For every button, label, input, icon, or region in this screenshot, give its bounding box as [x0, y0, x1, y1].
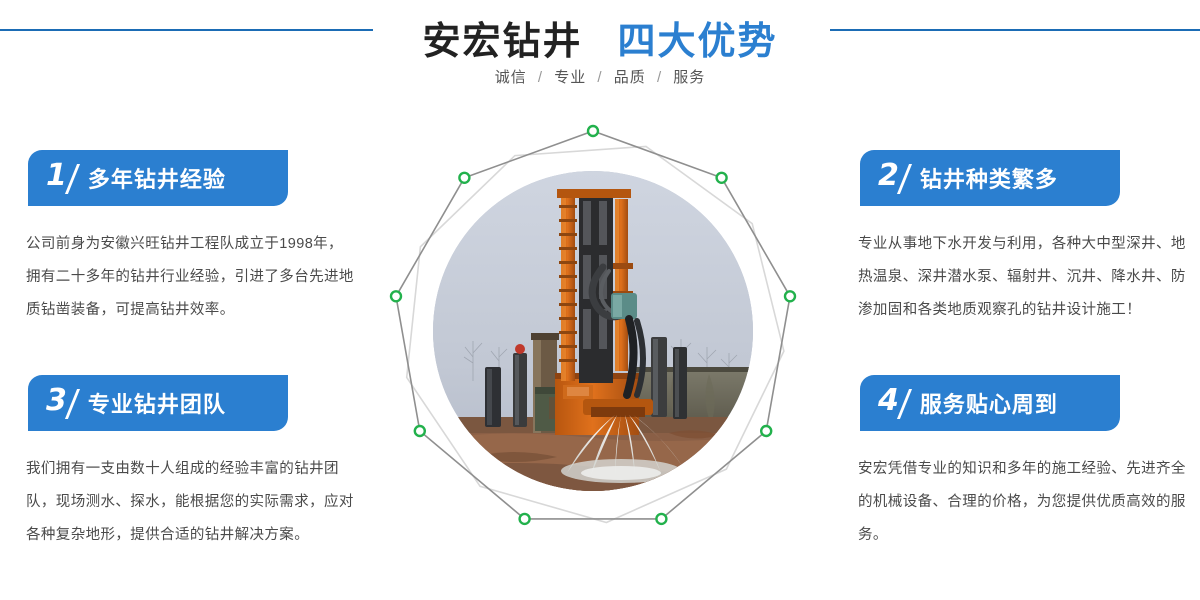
- advantage-body-3: 我们拥有一支由数十人组成的经验丰富的钻井团队，现场测水、探水，能根据您的实际需求…: [26, 453, 356, 552]
- advantage-title-2: 钻井种类繁多: [920, 162, 1058, 194]
- polygon-node-2: [785, 291, 795, 301]
- advantage-card-1[interactable]: 1 多年钻井经验 公司前身为安徽兴旺钻井工程队成立于1998年，拥有二十多年的钻…: [0, 150, 360, 327]
- page-subtitle: 诚信 / 专业 / 品质 / 服务: [0, 66, 1200, 87]
- polygon-node-6: [415, 426, 425, 436]
- advantage-badge-2: 2 钻井种类繁多: [860, 150, 1120, 206]
- advantage-body-4: 安宏凭借专业的知识和多年的施工经验、先进齐全的机械设备、合理的价格，为您提供优质…: [858, 453, 1188, 552]
- subtitle-item-0: 诚信: [495, 69, 527, 86]
- polygon-node-1: [717, 173, 727, 183]
- polygon-node-7: [391, 291, 401, 301]
- page-title-accent: 四大优势: [617, 10, 777, 65]
- advantage-body-1: 公司前身为安徽兴旺钻井工程队成立于1998年，拥有二十多年的钻井行业经验，引进了…: [26, 228, 356, 327]
- center-graphic: [373, 111, 813, 551]
- badge-slash-icon: [65, 164, 80, 194]
- badge-number-icon: 2: [878, 161, 899, 191]
- badge-number-icon: 1: [46, 161, 67, 191]
- page-title: 安宏钻井 四大优势: [0, 10, 1200, 65]
- advantage-title-1: 多年钻井经验: [88, 162, 226, 194]
- page-title-main: 安宏钻井: [423, 10, 583, 65]
- subtitle-separator-0: /: [532, 69, 549, 86]
- advantage-title-3: 专业钻井团队: [88, 387, 226, 419]
- polygon-node-8: [459, 173, 469, 183]
- polygon-node-4: [656, 514, 666, 524]
- badge-slash-icon: [897, 164, 912, 194]
- polygon-node-5: [520, 514, 530, 524]
- subtitle-item-1: 专业: [554, 69, 586, 86]
- advantage-badge-3: 3 专业钻井团队: [28, 375, 288, 431]
- badge-number-icon: 3: [46, 386, 67, 416]
- advantage-title-4: 服务贴心周到: [920, 387, 1058, 419]
- drilling-rig-illustration: [433, 171, 753, 491]
- polygon-node-0: [588, 126, 598, 136]
- page-header: 安宏钻井 四大优势 诚信 / 专业 / 品质 / 服务: [0, 0, 1200, 115]
- drilling-rig-photo: [433, 171, 753, 491]
- subtitle-separator-1: /: [591, 69, 608, 86]
- advantage-card-2[interactable]: 2 钻井种类繁多 专业从事地下水开发与利用，各种大中型深井、地热温泉、深井潜水泵…: [840, 150, 1200, 327]
- subtitle-item-3: 服务: [673, 69, 705, 86]
- advantage-card-4[interactable]: 4 服务贴心周到 安宏凭借专业的知识和多年的施工经验、先进齐全的机械设备、合理的…: [840, 375, 1200, 552]
- advantage-card-3[interactable]: 3 专业钻井团队 我们拥有一支由数十人组成的经验丰富的钻井团队，现场测水、探水，…: [0, 375, 360, 552]
- advantage-badge-1: 1 多年钻井经验: [28, 150, 288, 206]
- advantage-body-2: 专业从事地下水开发与利用，各种大中型深井、地热温泉、深井潜水泵、辐射井、沉井、降…: [858, 228, 1188, 327]
- subtitle-separator-2: /: [651, 69, 668, 86]
- subtitle-item-2: 品质: [614, 69, 646, 86]
- polygon-node-3: [761, 426, 771, 436]
- badge-number-icon: 4: [878, 386, 899, 416]
- badge-slash-icon: [65, 389, 80, 419]
- advantage-badge-4: 4 服务贴心周到: [860, 375, 1120, 431]
- badge-slash-icon: [897, 389, 912, 419]
